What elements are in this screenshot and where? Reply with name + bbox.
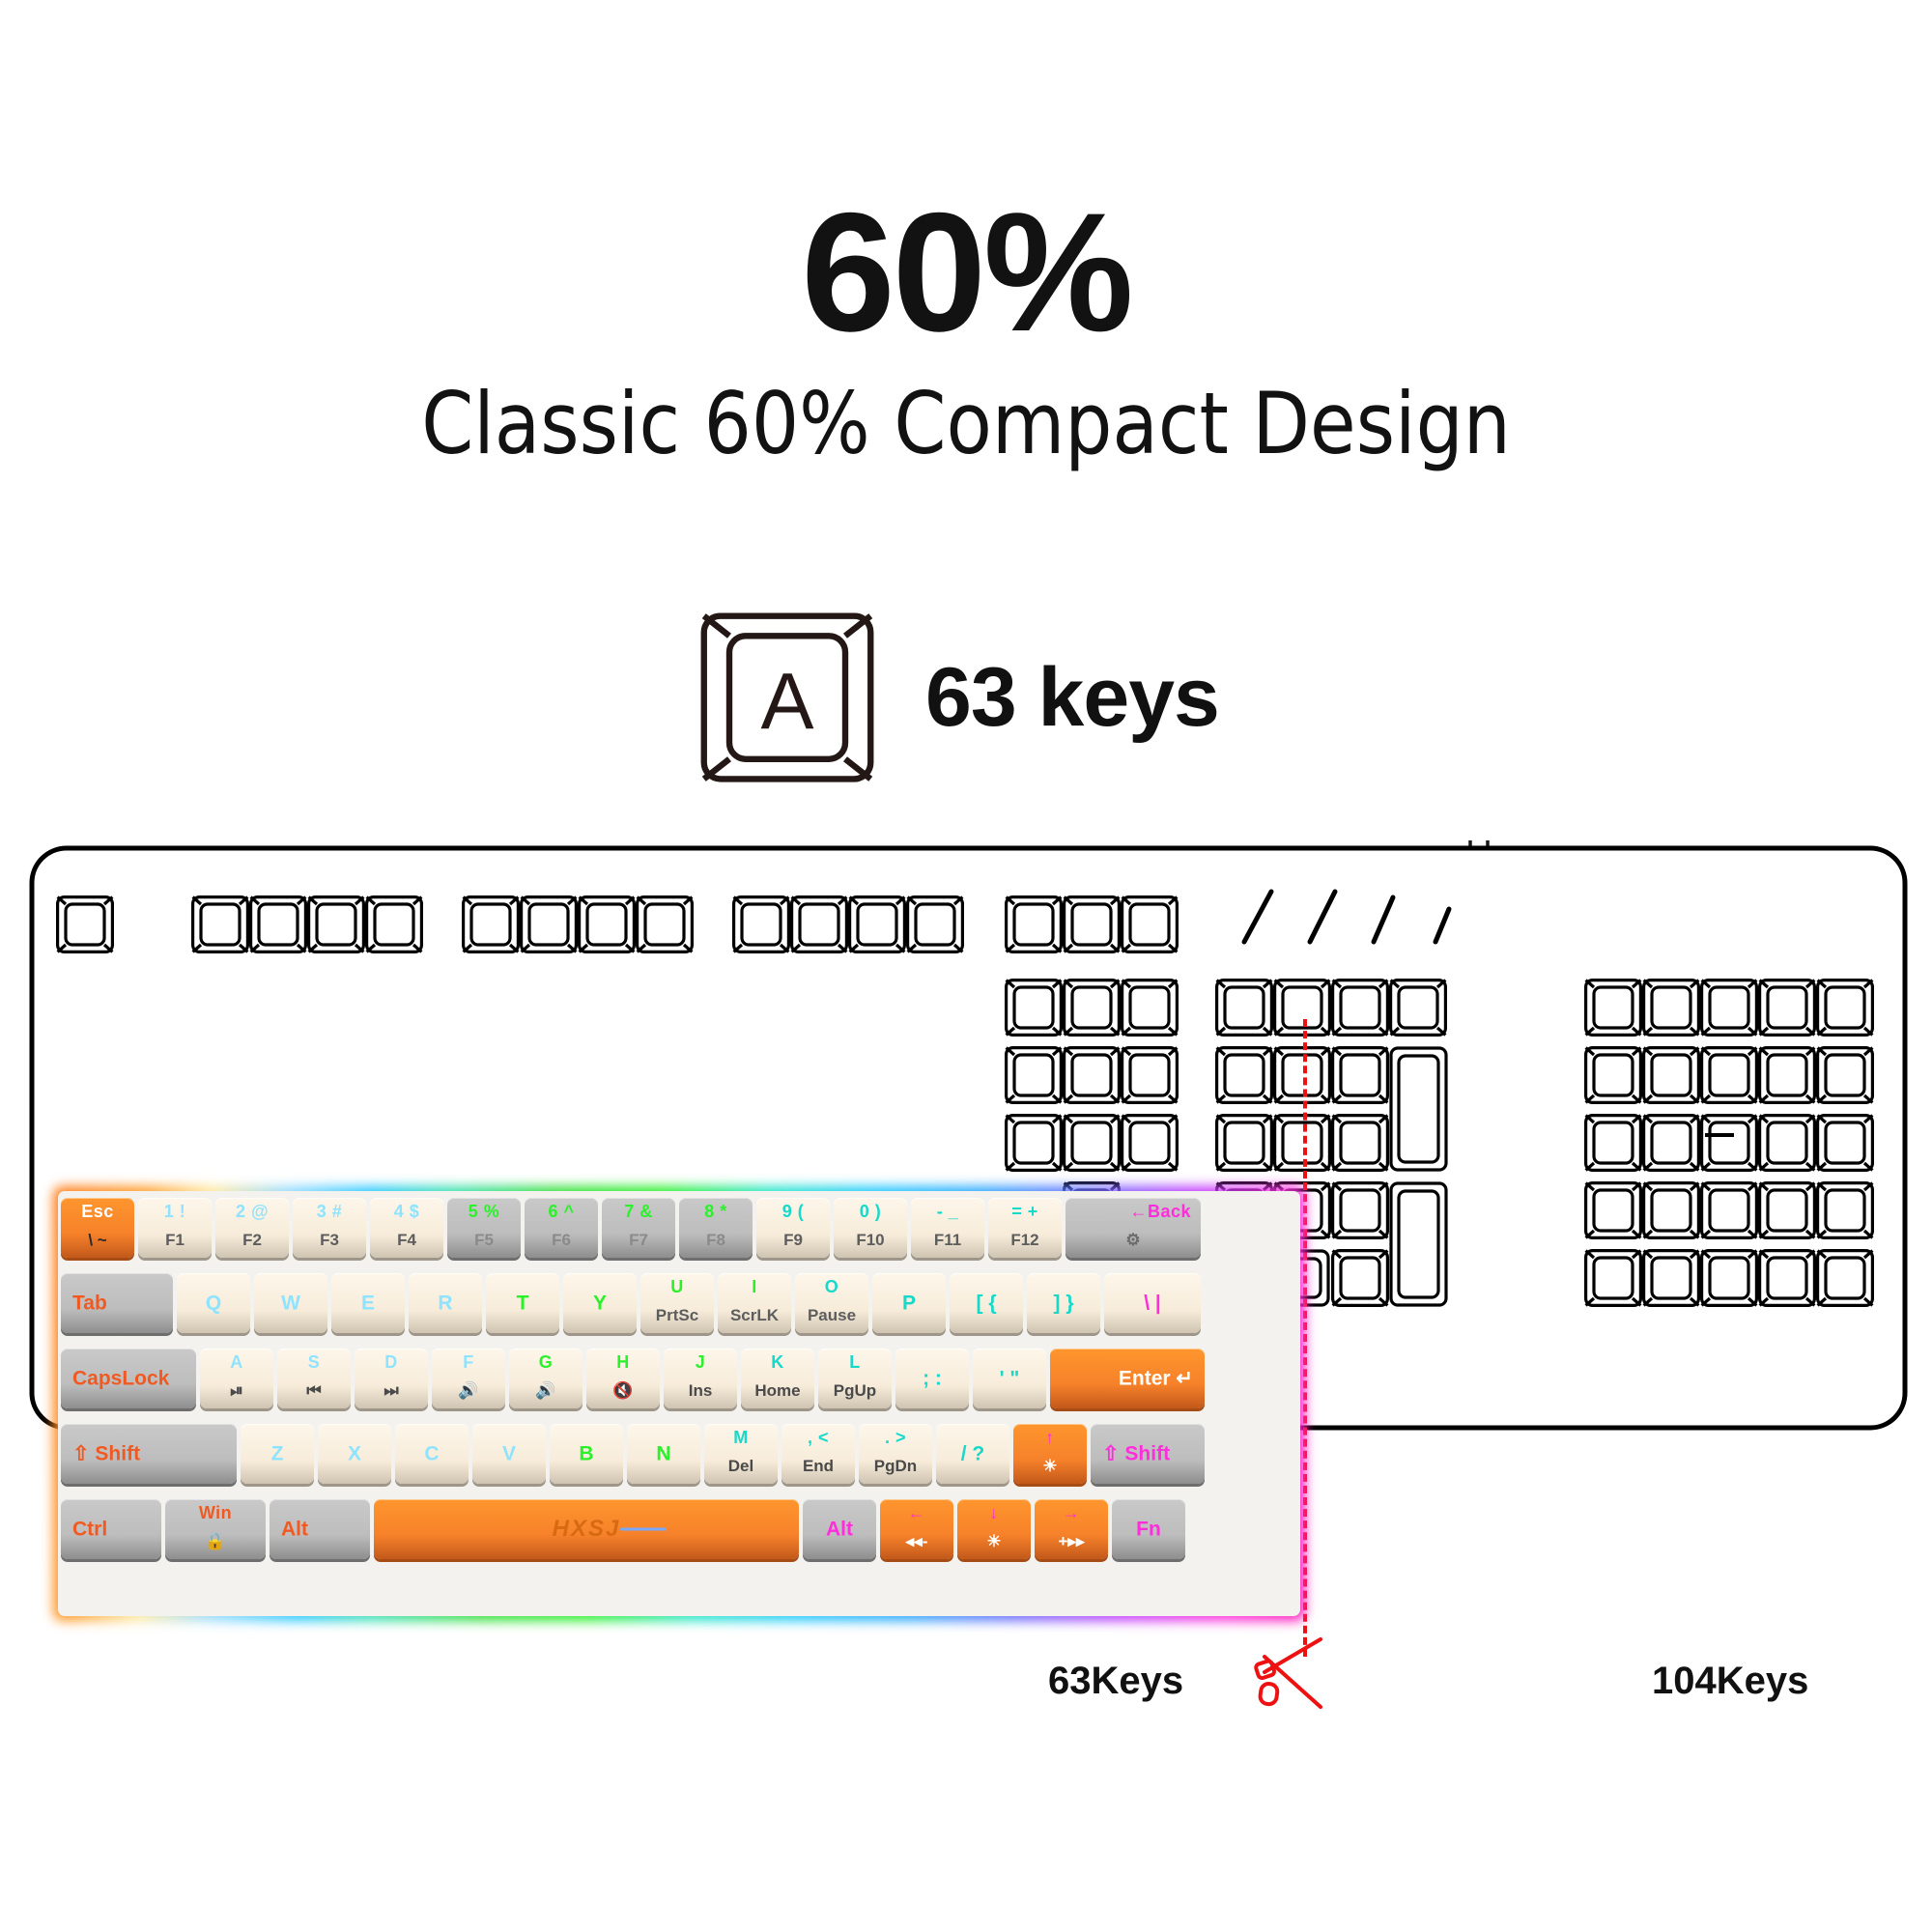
key-slash[interactable]: / ? [936,1424,1009,1484]
key-legend-top: . > [859,1429,932,1446]
key-legend-top: K [741,1353,814,1371]
key-esc[interactable]: Esc\ ~ [61,1198,134,1258]
key-legend-top: ←Back [1065,1203,1201,1220]
key-legend-primary: ⇧ Shift [61,1444,237,1464]
key-legend-bottom: ☀ [1013,1458,1087,1474]
key-legend-primary: / ? [936,1444,1009,1464]
key-legend-bottom: F8 [679,1232,753,1248]
key-legend-bottom: F11 [911,1232,984,1248]
key-l[interactable]: LPgUp [818,1349,892,1408]
key-legend-primary: ; : [895,1369,969,1389]
key-row-number-row: Esc\ ~1 !F12 @F23 #F34 $F45 %F56 ^F67 &F… [61,1198,1297,1258]
key-ralt[interactable]: Alt [803,1499,876,1559]
key-legend-bottom: Pause [795,1307,868,1323]
key-legend-bottom: F2 [215,1232,289,1248]
key-legend-top: 2 @ [215,1203,289,1220]
key-legend-primary: Ctrl [61,1520,161,1540]
key-legend-top: A [200,1353,273,1371]
key-q[interactable]: Q [177,1273,250,1333]
key-x[interactable]: X [318,1424,391,1484]
key-legend-top: 4 $ [370,1203,443,1220]
key-t[interactable]: T [486,1273,559,1333]
key-quote[interactable]: ' " [973,1349,1046,1408]
key-legend-top: 0 ) [834,1203,907,1220]
key-backspace[interactable]: ←Back⚙ [1065,1198,1201,1258]
key-legend-primary: E [331,1293,405,1314]
key-legend-bottom: 🔊 [509,1382,582,1399]
key-legend-bottom: PgUp [818,1382,892,1399]
spacebar-marker [620,1528,667,1531]
scissors-icon [1251,1628,1338,1719]
key-d[interactable]: D⏭ [355,1349,428,1408]
key-legend-top: 6 ^ [525,1203,598,1220]
key-legend-primary: R [409,1293,482,1314]
key-legend-top: M [704,1429,778,1446]
key-legend-primary: P [872,1293,946,1314]
key-legend-top: O [795,1278,868,1295]
key-legend-bottom: ⏯ [200,1382,273,1399]
key-legend-bottom: ⚙ [1065,1232,1201,1248]
key-legend-primary: ' " [973,1369,1046,1389]
key-legend-primary: B [550,1444,623,1464]
key-semicolon[interactable]: ; : [895,1349,969,1408]
key-f[interactable]: F🔊 [432,1349,505,1408]
key-legend-top: G [509,1353,582,1371]
key-left[interactable]: ←◂◂- [880,1499,953,1559]
key-tab[interactable]: Tab [61,1273,173,1333]
key-u[interactable]: UPrtSc [640,1273,714,1333]
key-j[interactable]: JIns [664,1349,737,1408]
key-ctrl[interactable]: Ctrl [61,1499,161,1559]
key-4[interactable]: 4 $F4 [370,1198,443,1258]
key-m[interactable]: MDel [704,1424,778,1484]
key-3[interactable]: 3 #F3 [293,1198,366,1258]
key-legend-bottom: F4 [370,1232,443,1248]
key-legend-primary: Alt [803,1520,876,1540]
key-e[interactable]: E [331,1273,405,1333]
key-row-home-row: CapsLockA⏯S⏮D⏭F🔊G🔊H🔇JInsKHomeLPgUp; :' "… [61,1349,1297,1408]
key-legend-top: 7 & [602,1203,675,1220]
key-2[interactable]: 2 @F2 [215,1198,289,1258]
key-g[interactable]: G🔊 [509,1349,582,1408]
key-8[interactable]: 8 *F8 [679,1198,753,1258]
key-lalt[interactable]: Alt [270,1499,370,1559]
key-legend-top: S [277,1353,351,1371]
key-legend-primary: N [627,1444,700,1464]
key-legend-primary: Alt [270,1520,370,1540]
key-o[interactable]: OPause [795,1273,868,1333]
key-legend-bottom: ⏮ [277,1382,351,1399]
keycount-label: 63 keys [925,650,1219,746]
svg-text:A: A [760,657,813,746]
key-legend-top: 3 # [293,1203,366,1220]
key-fn[interactable]: Fn [1112,1499,1185,1559]
key-lshift[interactable]: ⇧ Shift [61,1424,237,1484]
key-legend-primary: ⇧ Shift [1091,1444,1205,1464]
key-legend-bottom: F6 [525,1232,598,1248]
key-legend-bottom: End [781,1458,855,1474]
key-legend-top: 5 % [447,1203,521,1220]
key-legend-primary: C [395,1444,469,1464]
key-right[interactable]: →+▸▸ [1035,1499,1108,1559]
key-bslash[interactable]: \ | [1104,1273,1201,1333]
key-comma[interactable]: , <End [781,1424,855,1484]
key-legend-bottom: F3 [293,1232,366,1248]
key-legend-bottom: F5 [447,1232,521,1248]
key-p[interactable]: P [872,1273,946,1333]
key-legend-bottom: +▸▸ [1035,1533,1108,1549]
key-s[interactable]: S⏮ [277,1349,351,1408]
key-legend-bottom: F1 [138,1232,212,1248]
brand-logo: HXSJ [374,1516,799,1543]
key-legend-bottom: ☀ [957,1533,1031,1549]
key-legend-bottom: F9 [756,1232,830,1248]
key-legend-top: Win [165,1504,266,1521]
key-legend-bottom: F10 [834,1232,907,1248]
key-legend-bottom: Home [741,1382,814,1399]
key-row-bottom-row: CtrlWin🔒AltHXSJAlt←◂◂-↓☀→+▸▸Fn [61,1499,1297,1559]
key-rbrk[interactable]: ] } [1027,1273,1100,1333]
key-k[interactable]: KHome [741,1349,814,1408]
key-legend-top: L [818,1353,892,1371]
key-period[interactable]: . >PgDn [859,1424,932,1484]
keycap-a-icon: A [696,611,879,784]
key-win[interactable]: Win🔒 [165,1499,266,1559]
key-legend-top: , < [781,1429,855,1446]
key-legend-primary: ] } [1027,1293,1100,1314]
page-title: 60% [0,188,1932,357]
key-legend-top: 9 ( [756,1203,830,1220]
key-legend-top: H [586,1353,660,1371]
key-legend-primary: Enter ↵ [1050,1369,1205,1389]
key-legend-top: - _ [911,1203,984,1220]
key-legend-primary: W [254,1293,327,1314]
compact-keyboard: Esc\ ~1 !F12 @F23 #F34 $F45 %F56 ^F67 &F… [53,1186,1305,1621]
key-legend-top: ↑ [1013,1429,1087,1446]
key-legend-primary: Tab [61,1293,173,1314]
key-legend-primary: [ { [950,1293,1023,1314]
key-legend-bottom: \ ~ [61,1232,134,1248]
key-r[interactable]: R [409,1273,482,1333]
key-legend-primary: Q [177,1293,250,1314]
key-legend-bottom: Ins [664,1382,737,1399]
key-legend-bottom: ScrLK [718,1307,791,1323]
key-h[interactable]: H🔇 [586,1349,660,1408]
key-legend-top: → [1035,1504,1108,1521]
key-legend-top: ↓ [957,1504,1031,1521]
key-legend-top: = + [988,1203,1062,1220]
key-c[interactable]: C [395,1424,469,1484]
key-0[interactable]: 0 )F10 [834,1198,907,1258]
key-legend-bottom: 🔊 [432,1382,505,1399]
caption-104keys: 104Keys [1652,1660,1808,1703]
key-legend-top: Esc [61,1203,134,1220]
key-y[interactable]: Y [563,1273,637,1333]
key-legend-primary: \ | [1104,1293,1201,1314]
key-legend-top: J [664,1353,737,1371]
key-legend-primary: CapsLock [61,1369,196,1389]
key-legend-primary: X [318,1444,391,1464]
key-w[interactable]: W [254,1273,327,1333]
keycount-badge: A 63 keys [696,611,1236,784]
key-row-shift-row: ⇧ ShiftZXCVBNMDel, <End. >PgDn/ ?↑☀⇧ Shi… [61,1424,1297,1484]
key-i[interactable]: IScrLK [718,1273,791,1333]
key-legend-bottom: F12 [988,1232,1062,1248]
key-z[interactable]: Z [241,1424,314,1484]
key-legend-primary: V [472,1444,546,1464]
key-space[interactable]: HXSJ [374,1499,799,1559]
key-legend-top: I [718,1278,791,1295]
key-minus[interactable]: - _F11 [911,1198,984,1258]
key-legend-bottom: PrtSc [640,1307,714,1323]
key-legend-bottom: PgDn [859,1458,932,1474]
key-legend-bottom: F7 [602,1232,675,1248]
key-5[interactable]: 5 %F5 [447,1198,521,1258]
key-legend-primary: Y [563,1293,637,1314]
key-legend-top: 1 ! [138,1203,212,1220]
key-legend-primary: Z [241,1444,314,1464]
key-v[interactable]: V [472,1424,546,1484]
key-b[interactable]: B [550,1424,623,1484]
key-legend-bottom: Del [704,1458,778,1474]
key-n[interactable]: N [627,1424,700,1484]
key-lbrk[interactable]: [ { [950,1273,1023,1333]
key-rshift[interactable]: ⇧ Shift [1091,1424,1205,1484]
key-legend-top: F [432,1353,505,1371]
caption-63keys: 63Keys [1048,1660,1183,1703]
key-legend-bottom: 🔒 [165,1533,266,1549]
key-legend-bottom: 🔇 [586,1382,660,1399]
key-up[interactable]: ↑☀ [1013,1424,1087,1484]
key-7[interactable]: 7 &F7 [602,1198,675,1258]
key-6[interactable]: 6 ^F6 [525,1198,598,1258]
key-legend-primary: Fn [1112,1520,1185,1540]
key-legend-top: ← [880,1504,953,1521]
page-subtitle: Classic 60% Compact Design [116,382,1816,467]
key-legend-top: D [355,1353,428,1371]
key-9[interactable]: 9 (F9 [756,1198,830,1258]
key-equal[interactable]: = +F12 [988,1198,1062,1258]
key-capslock[interactable]: CapsLock [61,1349,196,1408]
key-legend-top: 8 * [679,1203,753,1220]
key-legend-bottom: ◂◂- [880,1533,953,1549]
key-legend-primary: T [486,1293,559,1314]
key-legend-top: U [640,1278,714,1295]
key-down[interactable]: ↓☀ [957,1499,1031,1559]
key-legend-bottom: ⏭ [355,1382,428,1399]
key-enter[interactable]: Enter ↵ [1050,1349,1205,1408]
infographic-canvas: 60% Classic 60% Compact Design A 63 keys [0,0,1932,1932]
key-a[interactable]: A⏯ [200,1349,273,1408]
key-1[interactable]: 1 !F1 [138,1198,212,1258]
key-row-q-row: TabQWERTYUPrtScIScrLKOPauseP[ {] }\ | [61,1273,1297,1333]
